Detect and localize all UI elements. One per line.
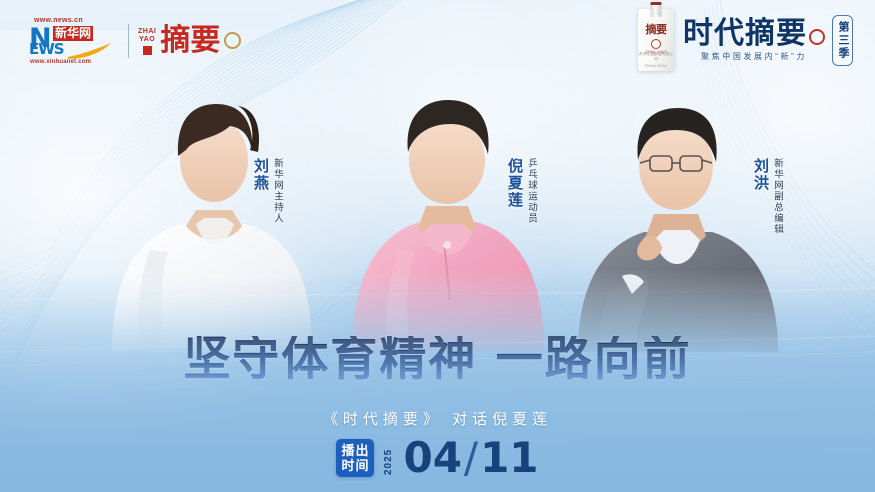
airdate-month: 04	[403, 433, 461, 482]
xinhua-chinese-name: 新华网	[53, 26, 93, 41]
zhaiyao-ring-icon	[224, 32, 241, 49]
person-photo-1	[112, 104, 312, 352]
person-name-2: 倪夏莲	[506, 158, 523, 209]
xinhua-url-bottom: www.xinhuanet.com	[30, 59, 91, 65]
airdate-block: 播出 时间 2025 04/11	[0, 437, 875, 479]
name-tag-3: 刘洪 新华网副总编辑	[752, 158, 783, 235]
zhaiyao-pinyin: ZHAI YAO	[138, 28, 156, 55]
person-photo-3	[578, 108, 778, 352]
person-role-3: 新华网副总编辑	[772, 158, 783, 235]
season-badge: 第三季	[832, 15, 853, 66]
airdate-badge: 播出 时间	[336, 439, 374, 477]
airdate-badge-line2: 时间	[341, 458, 369, 473]
show-title-text: 时代摘要	[683, 18, 807, 50]
airdate-day: 11	[480, 433, 538, 482]
logo-divider	[128, 24, 129, 58]
person-photo-2	[352, 100, 544, 352]
xinhua-brand-logo[interactable]: www.news.cn N EWS 新华网 www.xinhuanet.com …	[27, 17, 241, 65]
bottle-cap-icon	[651, 2, 662, 17]
page-subtitle: 《时代摘要》 对话倪夏莲	[0, 408, 875, 429]
bottle-ring-icon	[651, 39, 661, 49]
show-title-block: 时代摘要 聚焦中国发展内“新”力	[683, 18, 825, 62]
page-title: 坚守体育精神 一路向前	[0, 336, 875, 383]
bottle-spec-text: 53%vol 500ml	[638, 64, 674, 68]
xinhua-logo-mark: www.news.cn N EWS 新华网 www.xinhuanet.com	[27, 17, 119, 65]
airdate-date: 04/11	[403, 437, 538, 479]
airdate-separator: /	[462, 433, 480, 482]
zhaiyao-pinyin-line2: YAO	[139, 36, 155, 44]
show-logo[interactable]: 摘要 ZHAI YAO 贵州珍酒酿酒有限公司 53%vol 500ml 时代摘要…	[638, 9, 853, 71]
zhaiyao-logo[interactable]: ZHAI YAO 摘要	[138, 26, 241, 56]
zhaiyao-bottle-icon: 摘要 ZHAI YAO 贵州珍酒酿酒有限公司 53%vol 500ml	[638, 9, 674, 71]
promo-poster: www.news.cn N EWS 新华网 www.xinhuanet.com …	[0, 0, 875, 492]
bottle-label: 摘要	[638, 25, 674, 36]
xinhua-news-text: EWS	[29, 42, 64, 57]
show-ring-icon	[809, 29, 825, 45]
bottle-company-text: 贵州珍酒酿酒有限公司	[638, 52, 674, 62]
person-name-3: 刘洪	[752, 158, 769, 192]
name-tag-2: 倪夏莲 乒乓球运动员	[506, 158, 537, 224]
show-title-row: 时代摘要	[683, 18, 825, 50]
zhaiyao-square-icon	[143, 46, 152, 55]
show-title-wrap: 时代摘要 聚焦中国发展内“新”力 第三季	[683, 15, 853, 66]
airdate-badge-line1: 播出	[341, 443, 369, 458]
person-name-1: 刘燕	[252, 158, 269, 192]
xinhua-swoosh-icon	[67, 43, 113, 59]
person-role-1: 新华网主持人	[272, 158, 283, 224]
zhaiyao-chinese-name: 摘要	[160, 26, 220, 56]
zhaiyao-pinyin-line1: ZHAI	[138, 28, 156, 36]
person-role-2: 乒乓球运动员	[526, 158, 537, 224]
name-tag-1: 刘燕 新华网主持人	[252, 158, 283, 224]
airdate-year: 2025	[383, 441, 394, 475]
show-subtitle: 聚焦中国发展内“新”力	[701, 51, 807, 62]
